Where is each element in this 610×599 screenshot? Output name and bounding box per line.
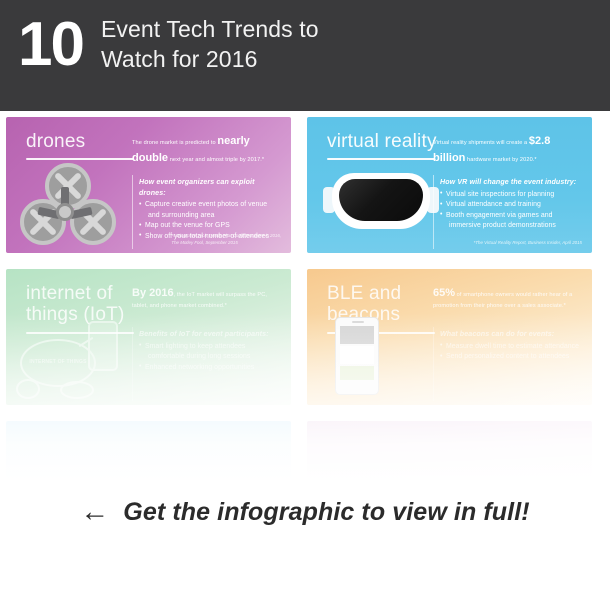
panel-faded-surface <box>307 421 592 481</box>
stat-prefix: The drone market is predicted to <box>132 140 217 146</box>
iot-phone <box>88 321 118 371</box>
panel-divider <box>132 327 133 401</box>
panel-divider <box>433 175 434 249</box>
panel-vr-heading: virtual reality <box>327 131 447 160</box>
panel-faded <box>0 415 297 481</box>
vr-lens <box>339 179 423 221</box>
panel-faded-surface <box>6 421 291 481</box>
iot-node <box>16 379 40 399</box>
panel-iot-list: Benefits of IoT for event participants: … <box>139 329 281 373</box>
stat-suffix: hardware market by 2020.* <box>465 157 536 163</box>
list-item: Measure dwell time to estimate attendanc… <box>440 342 582 352</box>
panel-vr-title: virtual reality <box>327 131 447 152</box>
panel-vr-list: How VR will change the event industry: V… <box>440 177 582 232</box>
list-item: and surrounding area <box>139 211 281 221</box>
list-item: immersive product demonstrations <box>440 221 582 231</box>
list-item: Enhanced networking opportunities <box>139 363 281 373</box>
panel-ble-and-beacons[interactable]: BLE and beacons <box>301 263 598 411</box>
source-line-1: *The Virtual Reality Report, Business In… <box>474 239 582 246</box>
panel-drones-surface: drones <box>6 117 291 253</box>
list-heading: How event organizers can exploit drones: <box>139 177 281 198</box>
list-item: comfortable during long sessions <box>139 352 281 362</box>
panel-drones-stat: The drone market is predicted to nearly … <box>132 133 281 166</box>
panel-row-1: drones <box>0 111 610 259</box>
iot-hub-label: INTERNET OF THINGS <box>29 359 86 366</box>
arrow-left-icon: ← <box>80 498 109 527</box>
panel-iot-title-line1: internet of <box>26 283 146 304</box>
page-title-line2: Watch for 2016 <box>101 44 319 74</box>
panel-vr-surface: virtual reality Virtual <box>307 117 592 253</box>
drone-rotor <box>70 199 116 245</box>
panel-divider <box>132 175 133 249</box>
list-item: Booth engagement via games and <box>440 211 582 221</box>
list-heading: How VR will change the event industry: <box>440 177 582 188</box>
cta-link[interactable]: ← Get the infographic to view in full! <box>0 486 610 538</box>
header-title-block: Event Tech Trends to Watch for 2016 <box>83 0 319 75</box>
panel-vr-source: *The Virtual Reality Report, Business In… <box>474 239 582 246</box>
stat-highlight: By 2016 <box>132 287 174 299</box>
ble-phone-speaker <box>352 321 364 323</box>
iot-network-icon: INTERNET OF THINGS <box>16 321 140 395</box>
panel-drones-heading: drones <box>26 131 146 160</box>
infographic-preview-page: 10 Event Tech Trends to Watch for 2016 d… <box>0 0 610 599</box>
list-item: Send personalized content to attendees <box>440 352 582 362</box>
cta-label: Get the infographic to view in full! <box>123 498 529 527</box>
panel-faded <box>301 415 598 481</box>
page-header: 10 Event Tech Trends to Watch for 2016 <box>0 0 610 111</box>
panel-drones[interactable]: drones <box>0 111 297 259</box>
panel-ble-surface: BLE and beacons <box>307 269 592 405</box>
panel-drones-title: drones <box>26 131 146 152</box>
iot-node <box>60 381 94 399</box>
panel-ble-title-line1: BLE and <box>327 283 447 304</box>
header-number: 10 <box>18 14 83 76</box>
drone-hub <box>56 203 74 221</box>
list-item: Virtual attendance and training <box>440 200 582 210</box>
stat-prefix: Virtual reality shipments will create a <box>433 140 529 146</box>
list-item: Capture creative event photos of venue <box>139 200 281 210</box>
panel-internet-of-things[interactable]: internet of things (IoT) INTERNET OF THI… <box>0 263 297 411</box>
ble-phone-body <box>335 317 379 395</box>
list-heading: Benefits of IoT for event participants: <box>139 329 281 340</box>
smartphone-beacon-icon <box>335 317 379 395</box>
panel-vr-stat: Virtual reality shipments will create a … <box>433 133 582 166</box>
page-title-line1: Event Tech Trends to <box>101 14 319 44</box>
ble-screen-band <box>340 326 374 344</box>
panel-ble-stat: 65% of smartphone owners would rather he… <box>433 285 582 310</box>
panel-virtual-reality[interactable]: virtual reality Virtual <box>301 111 598 259</box>
panel-iot-title: internet of things (IoT) <box>26 283 146 326</box>
benefit-list: Smart lighting to keep attendees comfort… <box>139 342 281 373</box>
panel-iot-surface: internet of things (IoT) INTERNET OF THI… <box>6 269 291 405</box>
list-item: Smart lighting to keep attendees <box>139 342 281 352</box>
panel-grid: drones <box>0 111 610 481</box>
ble-screen-band <box>340 346 374 364</box>
title-underline <box>26 158 134 160</box>
panel-divider <box>433 327 434 401</box>
panel-row-3-faded <box>0 415 610 481</box>
vr-headset-icon <box>323 171 439 233</box>
stat-highlight: 65% <box>433 287 455 299</box>
stat-suffix: next year and almost triple by 2017.* <box>168 157 264 163</box>
list-item: Map out the venue for GPS <box>139 221 281 231</box>
panel-row-2: internet of things (IoT) INTERNET OF THI… <box>0 263 610 411</box>
panel-drones-source: *5 Disruptive Tech Trends That Could Dom… <box>171 232 281 246</box>
drone-icon <box>20 163 116 247</box>
benefit-list: Measure dwell time to estimate attendanc… <box>440 342 582 363</box>
source-line-2: The Motley Fool, September 2015 <box>171 239 281 246</box>
infographic-thumbnail[interactable]: drones <box>0 111 610 481</box>
list-item: Virtual site inspections for planning <box>440 190 582 200</box>
panel-iot-stat: By 2016, the IoT market will surpass the… <box>132 285 281 310</box>
panel-ble-list: What beacons can do for events: Measure … <box>440 329 582 363</box>
ble-screen-band <box>340 366 374 380</box>
benefit-list: Virtual site inspections for planning Vi… <box>440 190 582 232</box>
title-underline <box>327 158 435 160</box>
vr-body <box>332 173 430 229</box>
list-heading: What beacons can do for events: <box>440 329 582 340</box>
source-line-1: *5 Disruptive Tech Trends That Could Dom… <box>171 232 281 239</box>
